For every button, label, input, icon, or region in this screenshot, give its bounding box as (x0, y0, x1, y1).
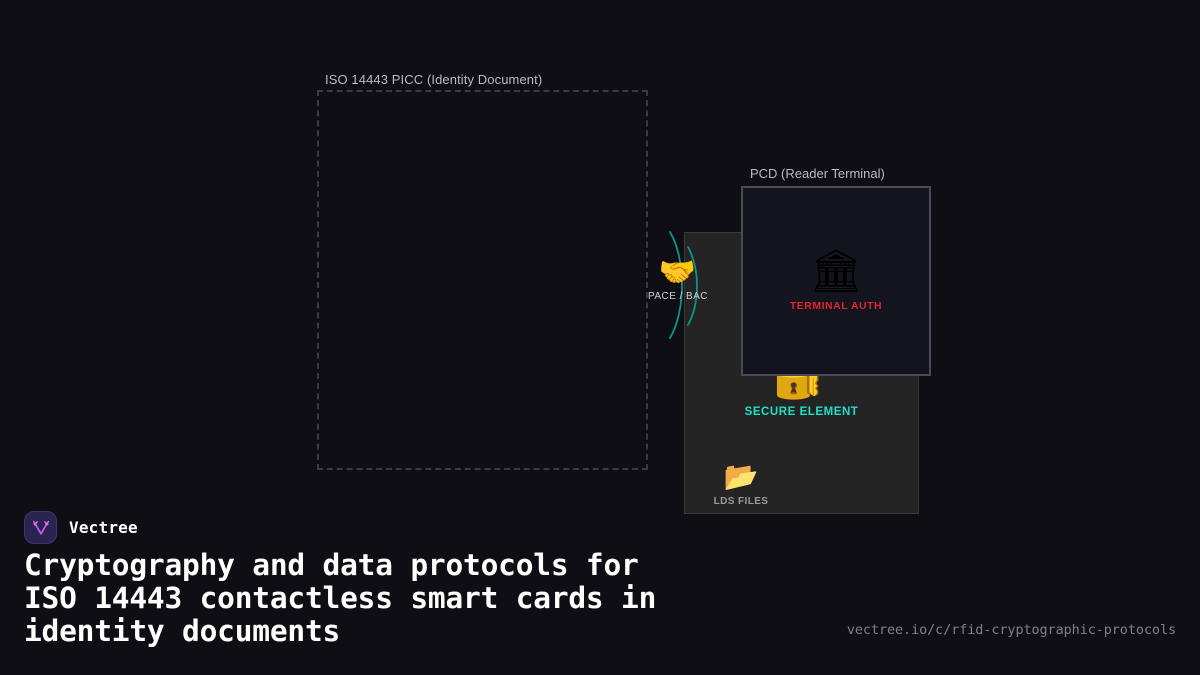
page-title: Cryptography and data protocols for ISO … (24, 549, 844, 648)
secure-element-label: SECURE ELEMENT (685, 406, 918, 418)
site-url: vectree.io/c/rfid-cryptographic-protocol… (847, 622, 1176, 638)
terminal-auth-label: TERMINAL AUTH (743, 300, 929, 312)
pcd-container-label: PCD (Reader Terminal) (750, 166, 885, 181)
brand-name: Vectree (69, 518, 138, 537)
brand: Vectree (24, 511, 138, 544)
rf-link-zone: 🤝 PACE / BAC (640, 225, 715, 345)
open-folder-icon: 📂 (685, 463, 797, 491)
slide-canvas: ISO 14443 PICC (Identity Document) ➰ ANT… (0, 0, 1200, 675)
pace-bac-label: PACE / BAC (630, 291, 726, 302)
pcd-reader-terminal-box: 🏛 TERMINAL AUTH (741, 186, 931, 376)
picc-dashed-container: ➰ ANTENNA LOOP 🔐 SECURE ELEMENT 📂 LDS FI… (317, 90, 648, 470)
classical-building-icon: 🏛 (743, 250, 929, 292)
picc-container-label: ISO 14443 PICC (Identity Document) (325, 72, 542, 87)
handshake-icon: 🤝 (640, 258, 715, 288)
footer: Vectree Cryptography and data protocols … (0, 495, 1200, 675)
pcd-node-terminal-auth: 🏛 TERMINAL AUTH (743, 250, 929, 312)
vectree-logo-icon (24, 511, 57, 544)
